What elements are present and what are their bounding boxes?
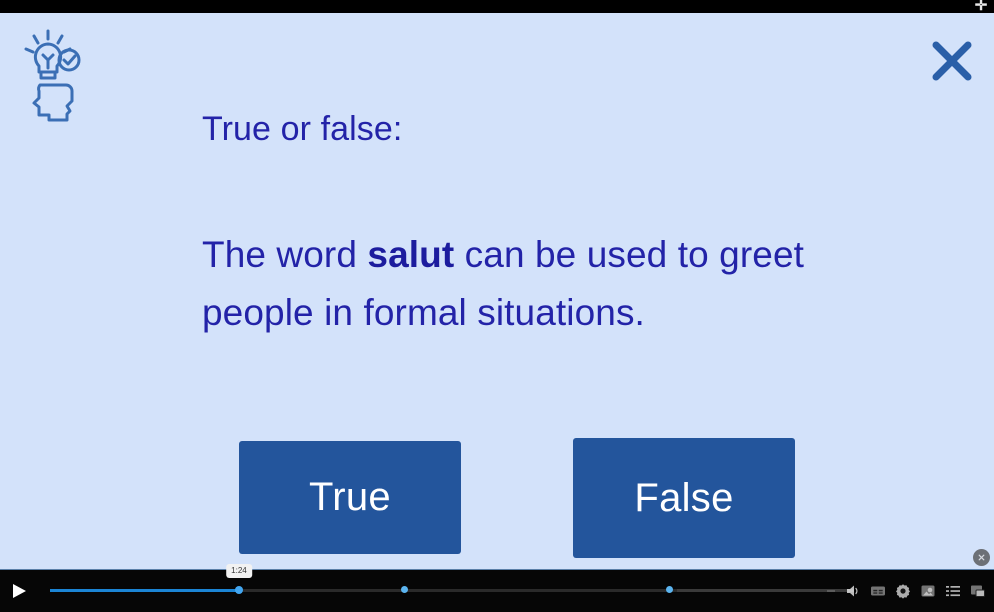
app-root: ✛ bbox=[0, 0, 994, 612]
lightbulb-head-idea-icon bbox=[18, 27, 90, 127]
close-button[interactable] bbox=[926, 35, 978, 87]
chapter-marker[interactable] bbox=[401, 586, 408, 593]
video-player-controls: 1:24 bbox=[0, 569, 994, 612]
question-text-block: True or false: The word salut can be use… bbox=[202, 108, 942, 342]
cursor-crosshair-icon: ✛ bbox=[974, 0, 988, 13]
corner-badge-icon[interactable] bbox=[973, 549, 990, 566]
progress-scrub-handle[interactable] bbox=[235, 586, 243, 594]
separator-dash-icon bbox=[826, 583, 836, 599]
settings-gear-icon[interactable] bbox=[895, 583, 911, 599]
volume-icon[interactable] bbox=[845, 583, 861, 599]
question-statement: The word salut can be used to greet peop… bbox=[202, 226, 902, 342]
fullscreen-icon[interactable] bbox=[970, 583, 986, 599]
quiz-card: True or false: The word salut can be use… bbox=[0, 13, 994, 570]
answer-true-button[interactable]: True bbox=[239, 441, 461, 554]
quality-icon[interactable] bbox=[920, 583, 936, 599]
statement-emphasis-word: salut bbox=[367, 234, 454, 275]
captions-icon[interactable] bbox=[870, 583, 886, 599]
answer-false-button[interactable]: False bbox=[573, 438, 795, 558]
question-prompt: True or false: bbox=[202, 108, 942, 150]
progress-bar[interactable]: 1:24 bbox=[50, 570, 854, 612]
statement-text-before: The word bbox=[202, 234, 367, 275]
answer-buttons-group: True False bbox=[239, 438, 839, 563]
playlist-icon[interactable] bbox=[945, 583, 961, 599]
time-tooltip: 1:24 bbox=[226, 564, 252, 578]
top-black-strip: ✛ bbox=[0, 0, 994, 13]
progress-played-segment bbox=[50, 589, 142, 592]
play-button[interactable] bbox=[10, 582, 28, 600]
player-right-controls bbox=[826, 570, 986, 612]
